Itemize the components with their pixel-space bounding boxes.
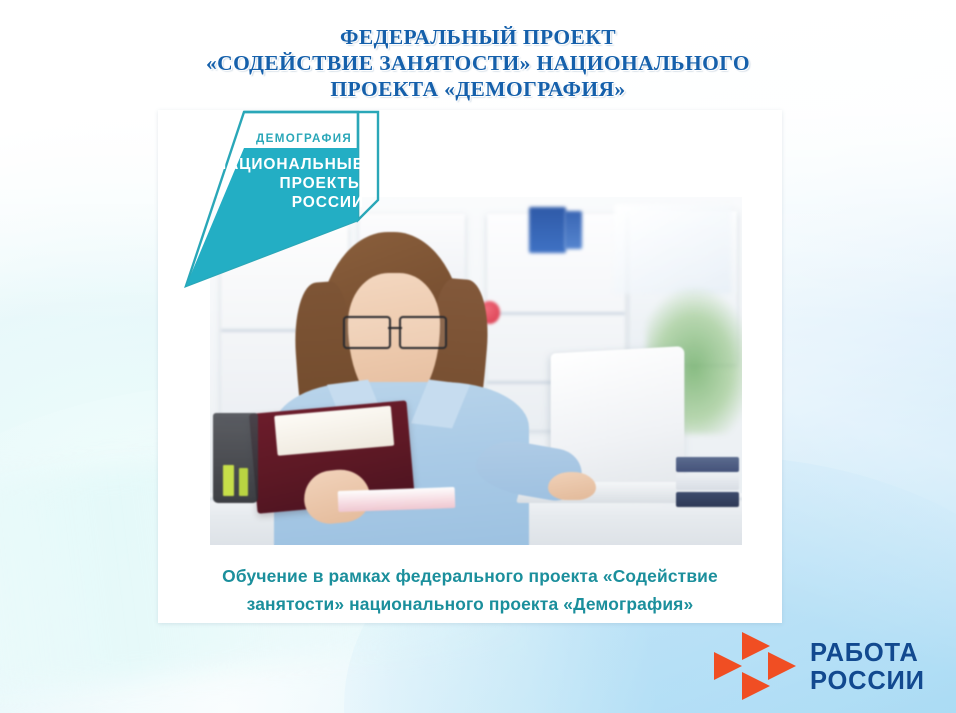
rabota-rossii-mark-icon xyxy=(712,630,798,704)
photo-pen xyxy=(223,465,234,496)
badge-line-2: ПРОЕКТЫ xyxy=(192,174,364,193)
badge-tagline: ДЕМОГРАФИЯ xyxy=(256,132,352,145)
slide-root: ФЕДЕРАЛЬНЫЙ ПРОЕКТ «СОДЕЙСТВИЕ ЗАНЯТОСТИ… xyxy=(0,0,956,713)
photo-hand xyxy=(548,472,596,500)
caption-line-1: Обучение в рамках федерального проекта «… xyxy=(186,562,754,590)
photo-window xyxy=(614,204,731,294)
photo-pen xyxy=(239,468,249,496)
photo-blue-box xyxy=(529,207,566,252)
logo-line-1: РАБОТА xyxy=(810,639,925,667)
page-title: ФЕДЕРАЛЬНЫЙ ПРОЕКТ «СОДЕЙСТВИЕ ЗАНЯТОСТИ… xyxy=(0,24,956,102)
photo-book-page xyxy=(275,406,395,456)
rabota-rossii-wordmark: РАБОТА РОССИИ xyxy=(810,639,925,695)
photo-pen-cup xyxy=(213,413,258,503)
title-line-2: «СОДЕЙСТВИЕ ЗАНЯТОСТИ» НАЦИОНАЛЬНОГО xyxy=(0,50,956,76)
photo-caption: Обучение в рамках федерального проекта «… xyxy=(186,562,754,618)
badge-line-3: РОССИИ xyxy=(192,193,364,212)
title-line-1: ФЕДЕРАЛЬНЫЙ ПРОЕКТ xyxy=(0,24,956,50)
photo-book-stack xyxy=(676,455,740,507)
content-card: ДЕМОГРАФИЯ НАЦИОНАЛЬНЫЕ ПРОЕКТЫ РОССИИ О… xyxy=(158,110,782,623)
photo-lens xyxy=(399,316,447,348)
photo-book-item xyxy=(676,474,740,489)
badge-title: НАЦИОНАЛЬНЫЕ ПРОЕКТЫ РОССИИ xyxy=(192,155,364,212)
glasses-icon xyxy=(343,316,448,344)
photo-lens xyxy=(343,316,391,348)
title-line-3: ПРОЕКТА «ДЕМОГРАФИЯ» xyxy=(0,76,956,102)
photo-book-item xyxy=(676,457,740,472)
national-projects-badge: ДЕМОГРАФИЯ НАЦИОНАЛЬНЫЕ ПРОЕКТЫ РОССИИ xyxy=(182,108,392,293)
badge-line-1: НАЦИОНАЛЬНЫЕ xyxy=(192,155,364,174)
logo-line-2: РОССИИ xyxy=(810,667,925,695)
photo-book-item xyxy=(676,492,740,507)
caption-line-2: занятости» национального проекта «Демогр… xyxy=(186,590,754,618)
pinwheel-triangles-icon xyxy=(712,630,798,704)
rabota-rossii-logo: РАБОТА РОССИИ xyxy=(712,628,944,706)
photo-blue-box xyxy=(564,211,583,249)
photo-bridge xyxy=(388,327,403,329)
